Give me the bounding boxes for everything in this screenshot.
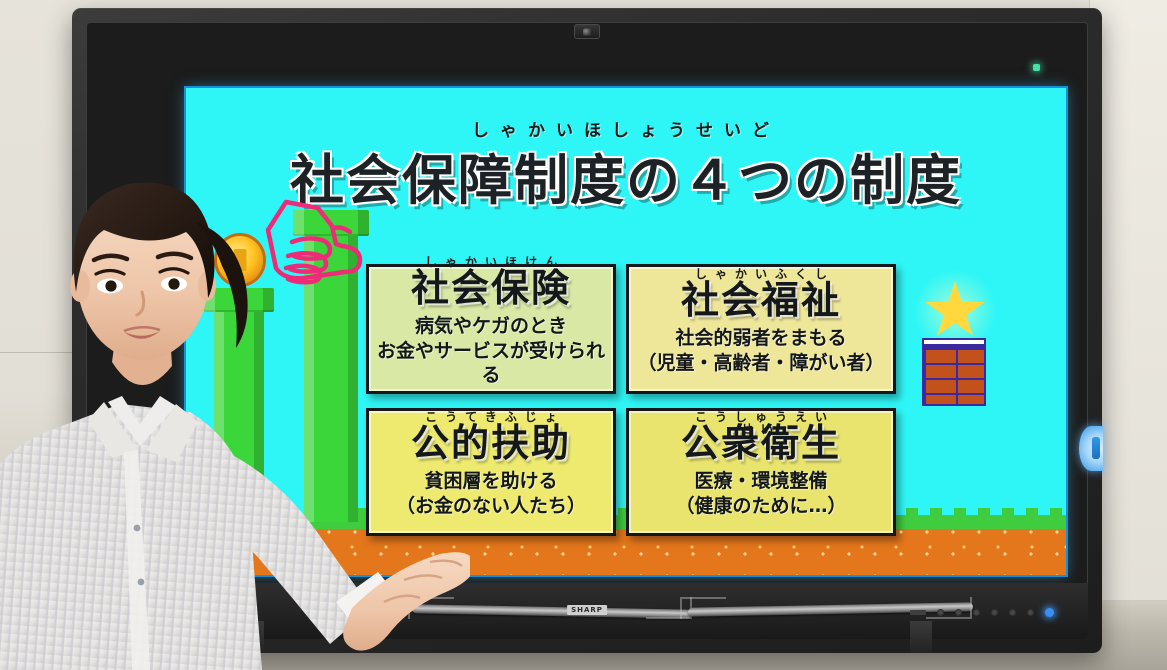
brick-block-top [922, 338, 986, 346]
mario-pipe-short-cap [204, 288, 274, 312]
heading-wrap: しゃかいほけん 社会保険 [411, 269, 571, 307]
stand-leg-left [242, 621, 264, 653]
box-desc-line: （児童・高齢者・障がい者） [637, 351, 884, 375]
box-heading: 公的扶助 [411, 424, 571, 462]
box-furigana: しゃかいふくし [681, 268, 841, 280]
concept-box-social-welfare[interactable]: しゃかいふくし 社会福祉 社会的弱者をまもる （児童・高齢者・障がい者） [626, 264, 896, 394]
box-furigana: こうてきふじょ [411, 411, 571, 423]
box-furigana: しゃかいほけん [411, 256, 571, 268]
hw-button-1[interactable] [937, 609, 944, 616]
box-desc-line: （お金のない人たち） [396, 494, 586, 518]
hw-button-4[interactable] [991, 609, 998, 616]
hw-button-5[interactable] [1009, 609, 1016, 616]
hw-button-6[interactable] [1027, 609, 1034, 616]
mario-pipe-tall-body [304, 222, 358, 522]
slide-screen[interactable]: しゃかいほしょうせいど 社会保障制度の４つの制度 しゃかいほけん 社会保険 病気… [186, 88, 1066, 575]
hw-button-3[interactable] [973, 609, 980, 616]
box-heading: 社会福祉 [681, 281, 841, 319]
hw-button-2[interactable] [955, 609, 962, 616]
classroom-scene: しゃかいほしょうせいど 社会保障制度の４つの制度 しゃかいほけん 社会保険 病気… [0, 0, 1167, 670]
brand-logo: SHARP [567, 605, 607, 615]
pen-tray: SHARP [86, 583, 1088, 639]
power-led-indicator [1033, 64, 1040, 71]
mario-pipe-short-body [214, 300, 264, 522]
box-furigana: こうしゅうえいせい [681, 411, 841, 435]
box-desc-line: 病気やケガのとき [373, 314, 609, 338]
box-description: 医療・環境整備 （健康のために…） [675, 469, 846, 519]
heading-wrap: こうしゅうえいせい 公衆衛生 [681, 424, 841, 462]
side-power-button[interactable] [1079, 426, 1103, 471]
box-desc-line: 医療・環境整備 [675, 469, 846, 493]
page-title: 社会保障制度の４つの制度 [186, 136, 1066, 215]
box-heading: 社会保険 [411, 269, 571, 307]
camera-icon [574, 24, 600, 39]
box-desc-line: 貧困層を助ける [396, 469, 586, 493]
hardware-button-row[interactable] [910, 608, 1054, 617]
concept-box-public-health[interactable]: こうしゅうえいせい 公衆衛生 医療・環境整備 （健康のために…） [626, 408, 896, 536]
mario-coin-icon [217, 236, 263, 284]
input-label [910, 610, 926, 615]
stand-leg-right [910, 621, 932, 653]
mario-brick-block [922, 346, 986, 406]
concept-box-public-assistance[interactable]: こうてきふじょ 公的扶助 貧困層を助ける （お金のない人たち） [366, 408, 616, 536]
box-desc-line: 社会的弱者をまもる [637, 326, 884, 350]
hw-power-button[interactable] [1045, 608, 1054, 617]
interactive-whiteboard[interactable]: しゃかいほしょうせいど 社会保障制度の４つの制度 しゃかいほけん 社会保険 病気… [72, 8, 1102, 653]
box-description: 貧困層を助ける （お金のない人たち） [396, 469, 586, 519]
heading-wrap: こうてきふじょ 公的扶助 [411, 424, 571, 462]
concept-box-social-insurance[interactable]: しゃかいほけん 社会保険 病気やケガのとき お金やサービスが受けられる [366, 264, 616, 394]
box-description: 病気やケガのとき お金やサービスが受けられる [373, 314, 609, 388]
heading-wrap: しゃかいふくし 社会福祉 [681, 281, 841, 319]
box-desc-line: （健康のために…） [675, 494, 846, 518]
box-description: 社会的弱者をまもる （児童・高齢者・障がい者） [637, 326, 884, 376]
box-desc-line: お金やサービスが受けられる [373, 339, 609, 388]
